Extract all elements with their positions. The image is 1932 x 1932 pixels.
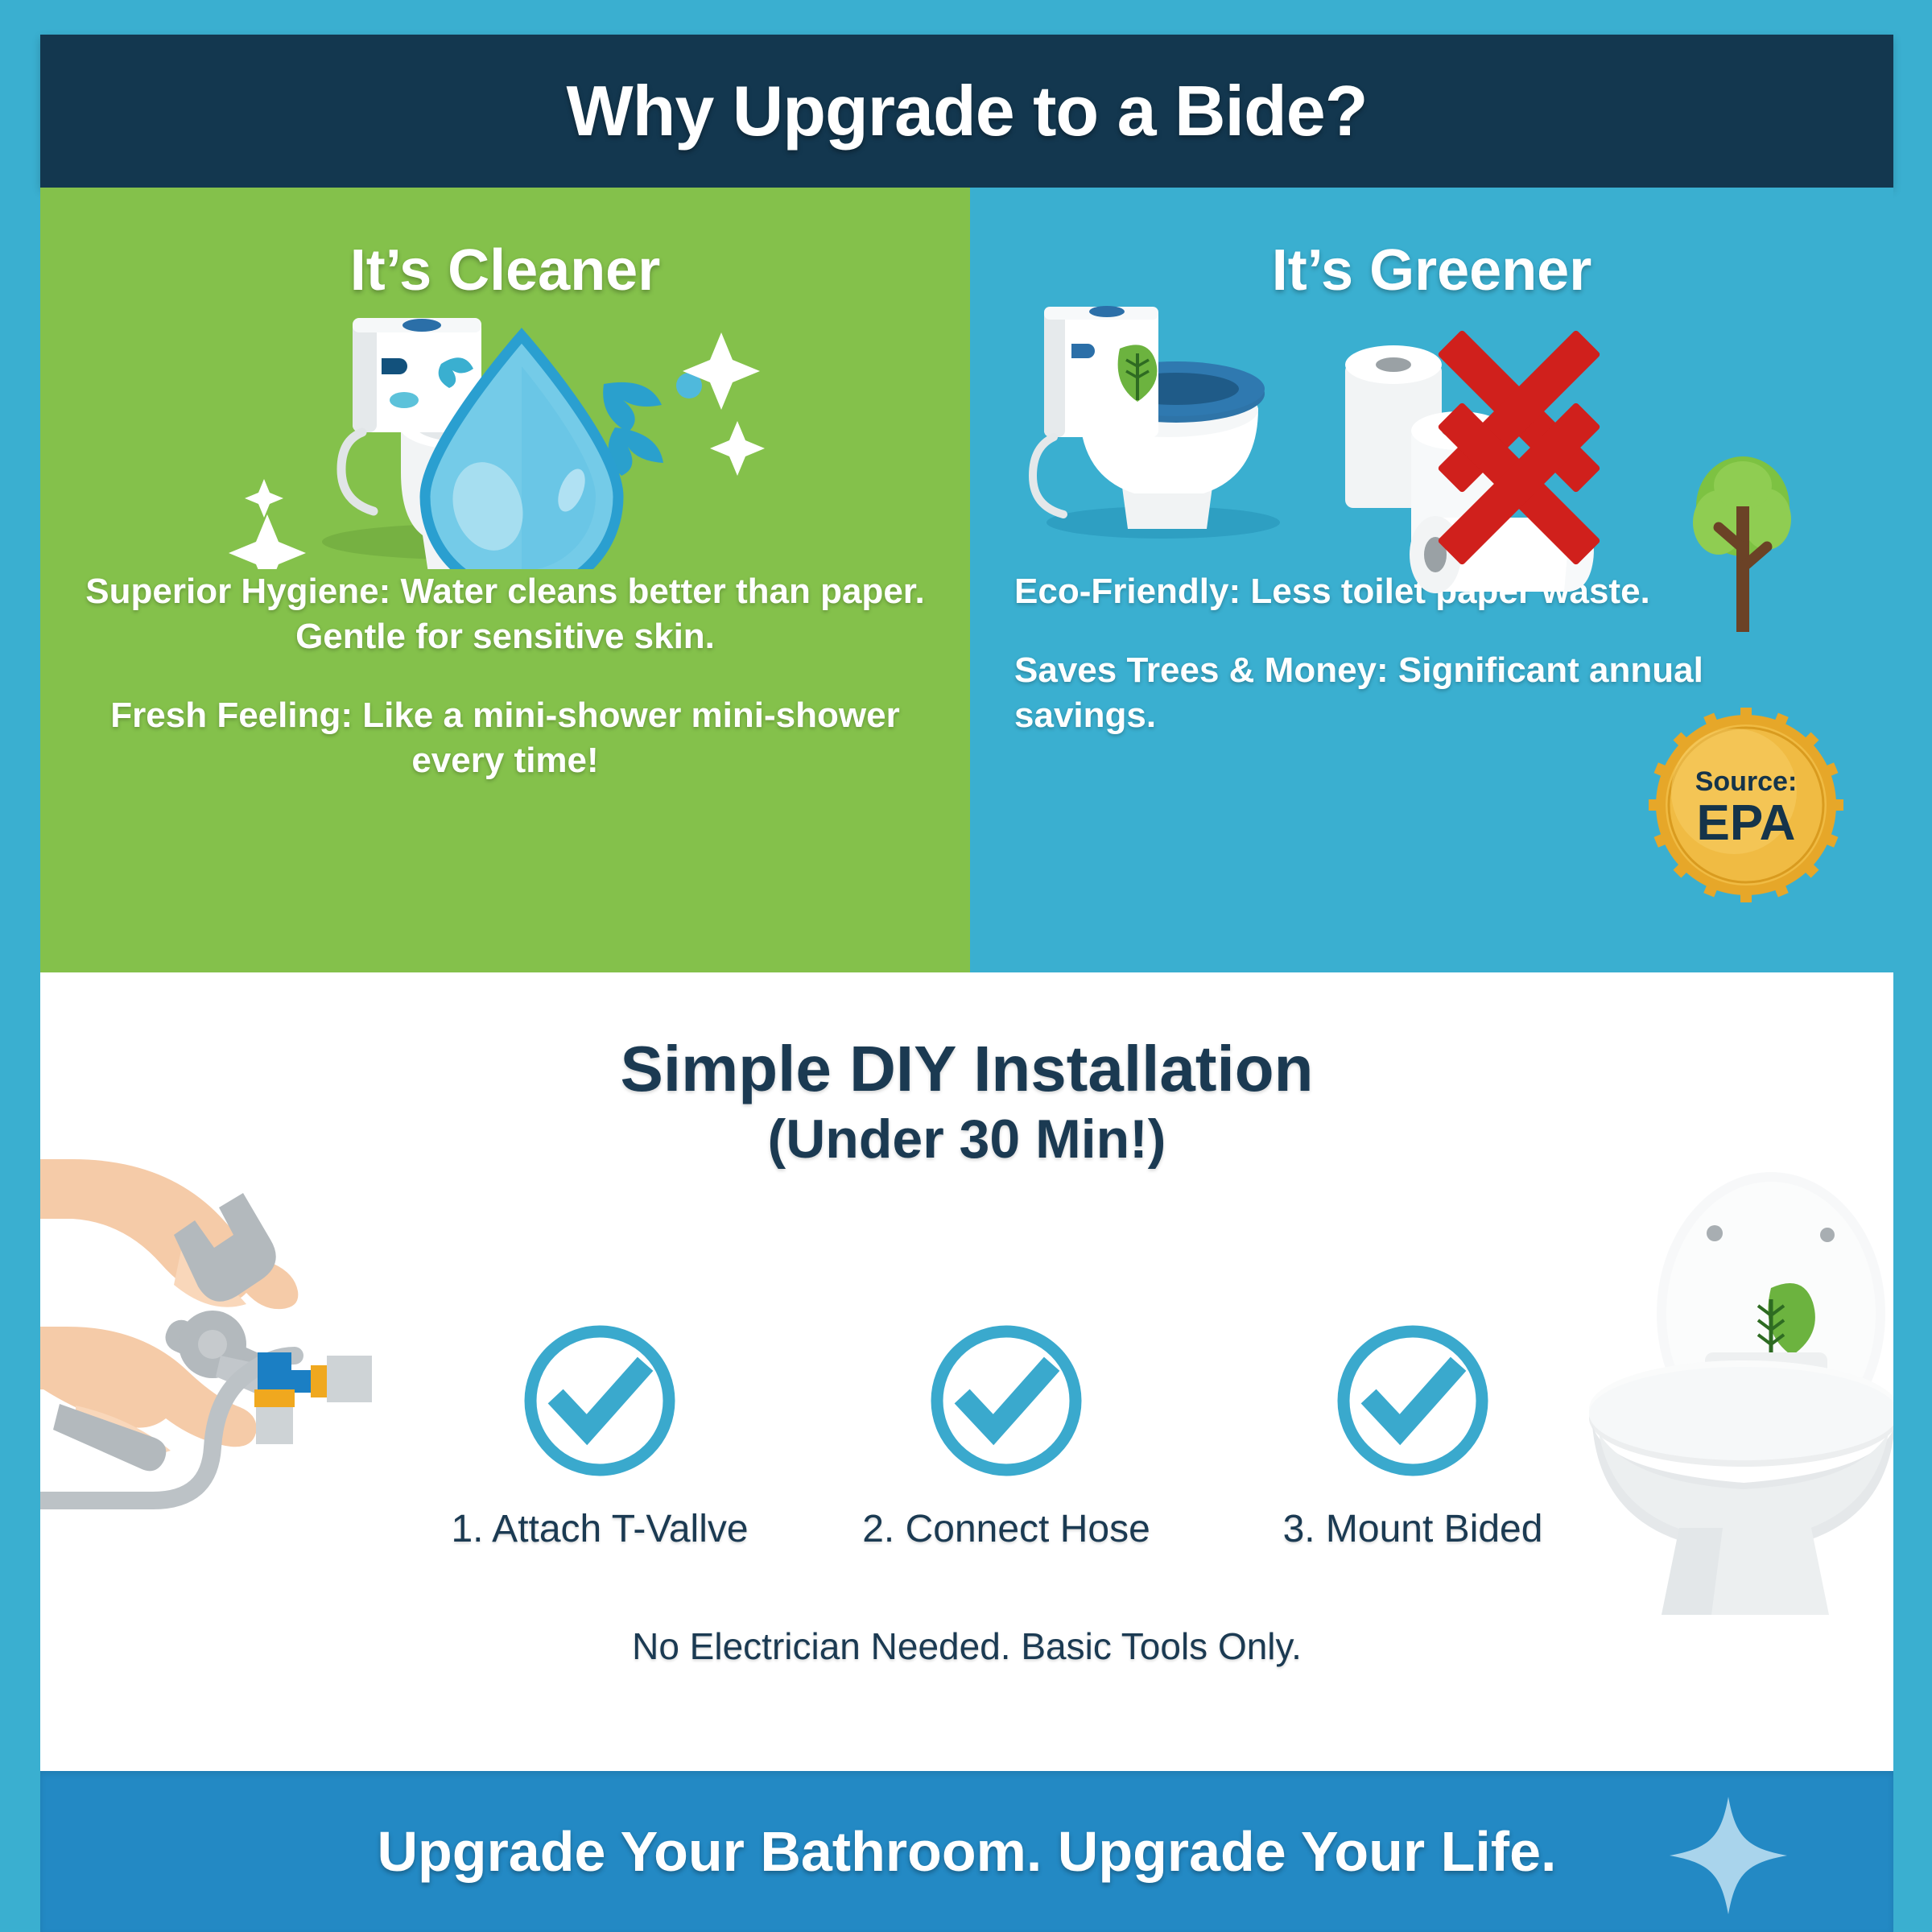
installation-card: Simple DIY Installation (Under 30 Min!)	[40, 972, 1893, 1771]
panel-cleaner-heading: It’s Cleaner	[40, 188, 970, 303]
header-band: Why Upgrade to a Bide?	[40, 35, 1893, 188]
benefit-fresh-feeling: Fresh Feeling: Like a mini-shower mini-s…	[85, 693, 926, 783]
footer-banner: Upgrade Your Bathroom. Upgrade Your Life…	[40, 1771, 1893, 1932]
hand-wrench-tvalve-icon	[40, 1140, 386, 1542]
tree-icon	[1693, 456, 1791, 632]
epa-seal-icon: Source: EPA	[1645, 704, 1847, 906]
panel-greener-heading: It’s Greener	[970, 188, 1893, 303]
badge-epa-label: EPA	[1697, 795, 1796, 851]
benefits-panels: It’s Cleaner	[40, 188, 1893, 972]
step-item[interactable]: 3. Mount Bided	[1240, 1320, 1586, 1551]
benefit-superior-hygiene: Superior Hygiene: Water cleans better th…	[85, 569, 926, 659]
step-label: 3. Mount Bided	[1240, 1507, 1586, 1551]
step-item[interactable]: 1. Attach T-Vallve	[427, 1320, 773, 1551]
installation-note: No Electrician Needed. Basic Tools Only.	[40, 1624, 1893, 1668]
installation-title: Simple DIY Installation	[40, 972, 1893, 1103]
installation-steps: 1. Attach T-Vallve 2. Connect Hose 3. Mo…	[427, 1320, 1586, 1551]
greener-illustration	[970, 303, 1893, 569]
toilet-paper-tree-illustration	[970, 303, 1893, 642]
check-circle-icon	[519, 1320, 680, 1481]
cleaner-illustration	[40, 303, 970, 569]
panel-cleaner: It’s Cleaner	[40, 188, 970, 972]
sparkle-icon	[1668, 1795, 1789, 1916]
panel-greener: It’s Greener	[970, 188, 1893, 972]
bidet-toilet-illustration	[1586, 1169, 1893, 1624]
cleaner-benefits: Superior Hygiene: Water cleans better th…	[40, 569, 970, 783]
footer-tagline: Upgrade Your Bathroom. Upgrade Your Life…	[378, 1819, 1557, 1884]
hand-wrench-illustration	[40, 1140, 386, 1546]
step-item[interactable]: 2. Connect Hose	[833, 1320, 1179, 1551]
check-circle-icon	[1332, 1320, 1493, 1481]
check-circle-icon	[926, 1320, 1087, 1481]
toilet-leaf-icon	[1586, 1169, 1893, 1620]
page-title: Why Upgrade to a Bide?	[567, 70, 1368, 152]
infographic-canvas: Why Upgrade to a Bide? It’s Cleaner	[0, 0, 1932, 1932]
t-valve-icon	[254, 1352, 372, 1444]
toilet-waterdrop-illustration	[40, 303, 970, 569]
step-label: 2. Connect Hose	[833, 1507, 1179, 1551]
badge-source-label: Source:	[1695, 766, 1798, 797]
source-badge: Source: EPA	[1645, 704, 1847, 910]
step-label: 1. Attach T-Vallve	[427, 1507, 773, 1551]
